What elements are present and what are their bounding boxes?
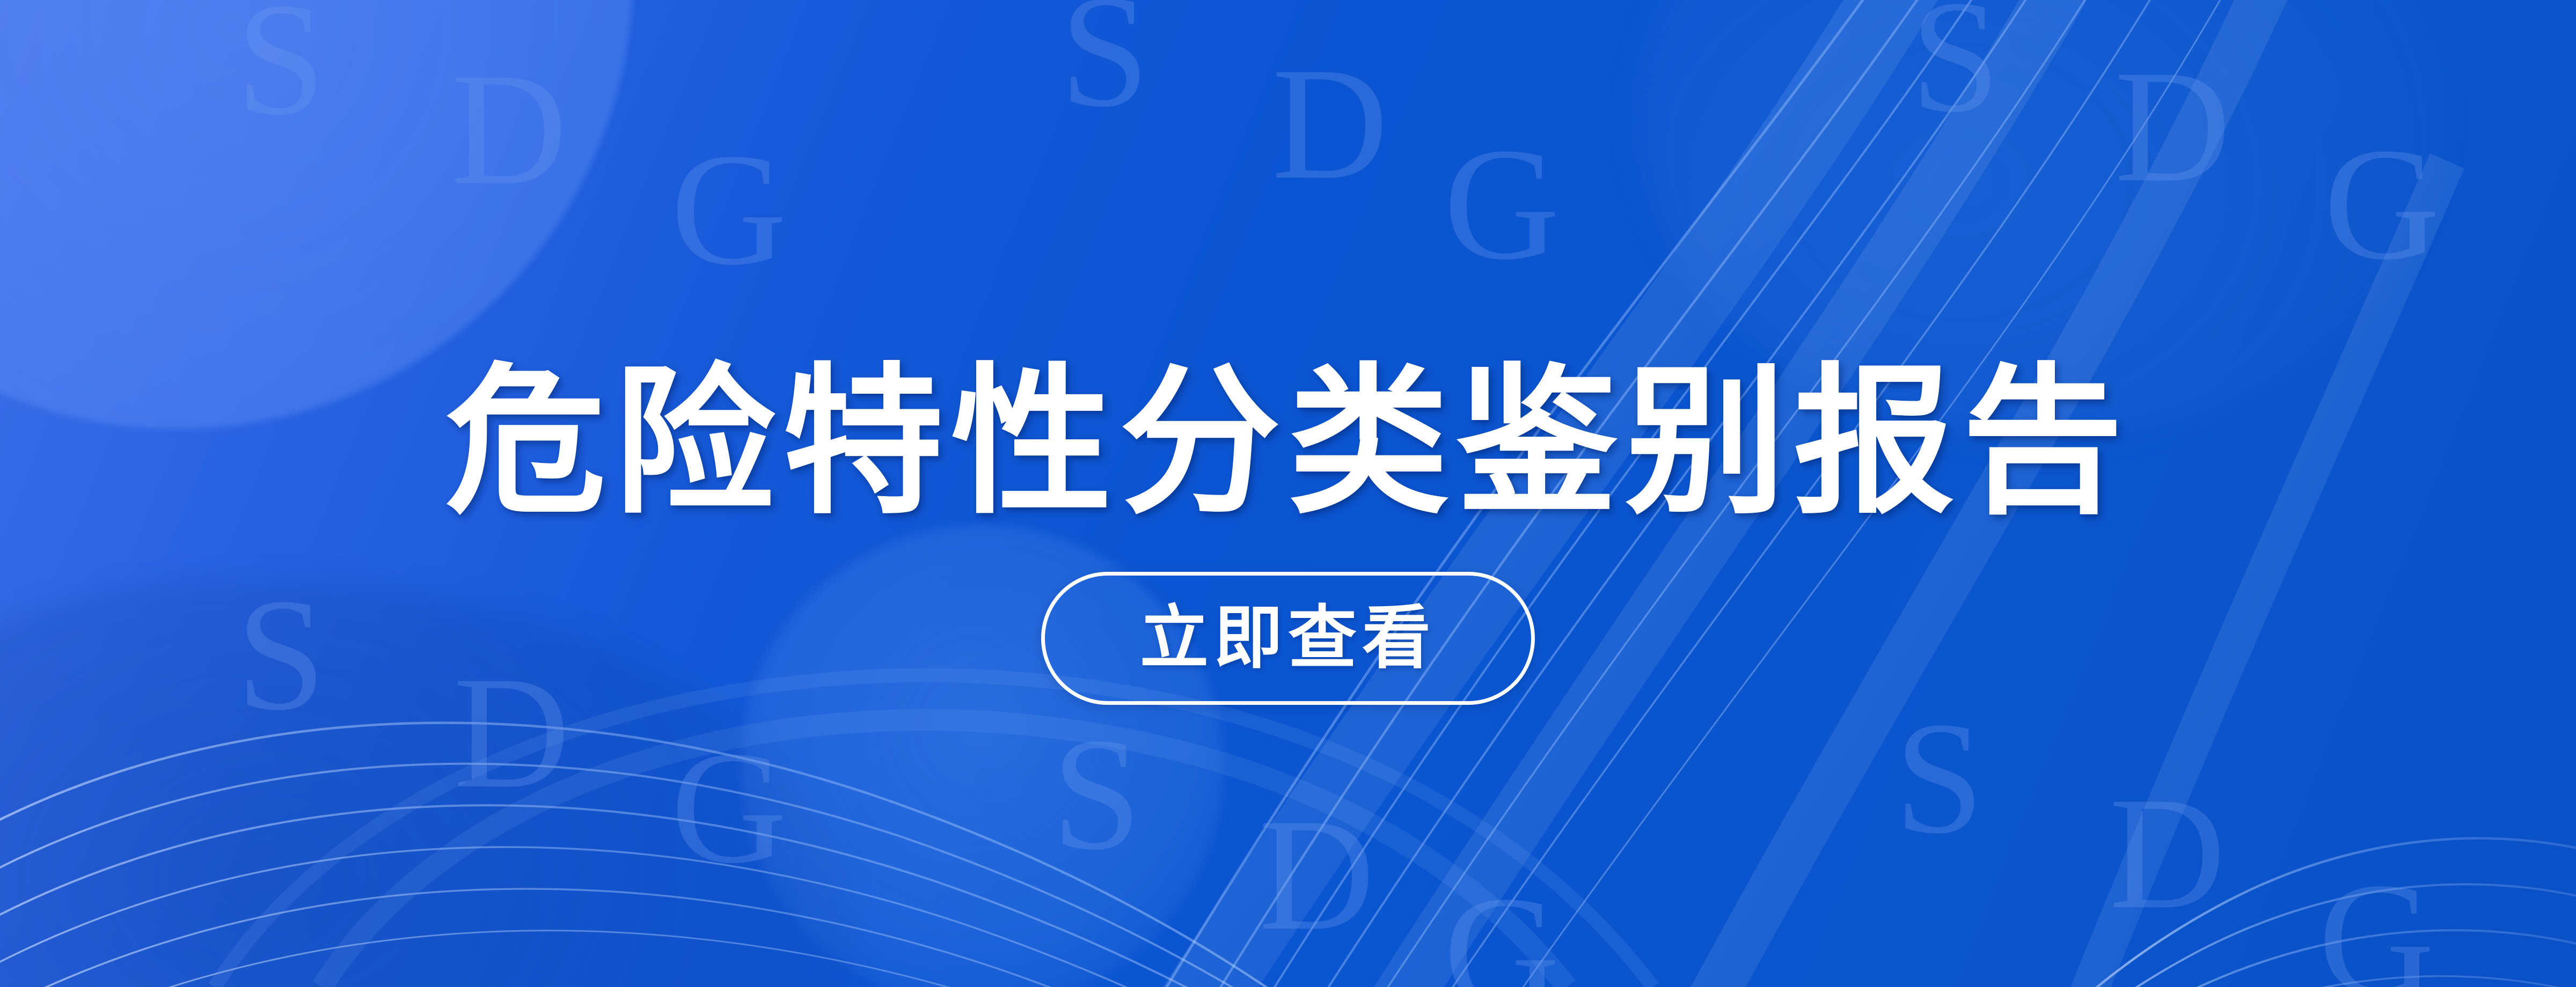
watermark-letter-s: S [1052, 713, 1141, 874]
promo-banner: SDGSDGSDGSDGSDGSDG 危险特性分类鉴别报告 立即查看 [0, 0, 2576, 987]
watermark-letter-s: S [236, 0, 326, 139]
watermark-letter-g: G [671, 727, 787, 888]
watermark-letter-d: D [451, 48, 567, 209]
cta-wrap: 立即查看 [0, 572, 2576, 705]
watermark-letter-g: G [2318, 858, 2435, 987]
watermark-letter-d: D [1272, 43, 1388, 204]
view-now-button-label: 立即查看 [1140, 604, 1436, 673]
watermark-letter-s: S [1060, 0, 1150, 131]
view-now-button[interactable]: 立即查看 [1041, 572, 1535, 705]
watermark-letter-s: S [1911, 0, 2000, 137]
watermark-letter-d: D [2109, 772, 2226, 933]
banner-title: 危险特性分类鉴别报告 [445, 352, 2131, 532]
watermark-letter-d: D [2114, 46, 2231, 207]
watermark-letter-d: D [1258, 794, 1375, 955]
watermark-letter-s: S [1894, 697, 1984, 858]
watermark-letter-g: G [1444, 872, 1560, 987]
